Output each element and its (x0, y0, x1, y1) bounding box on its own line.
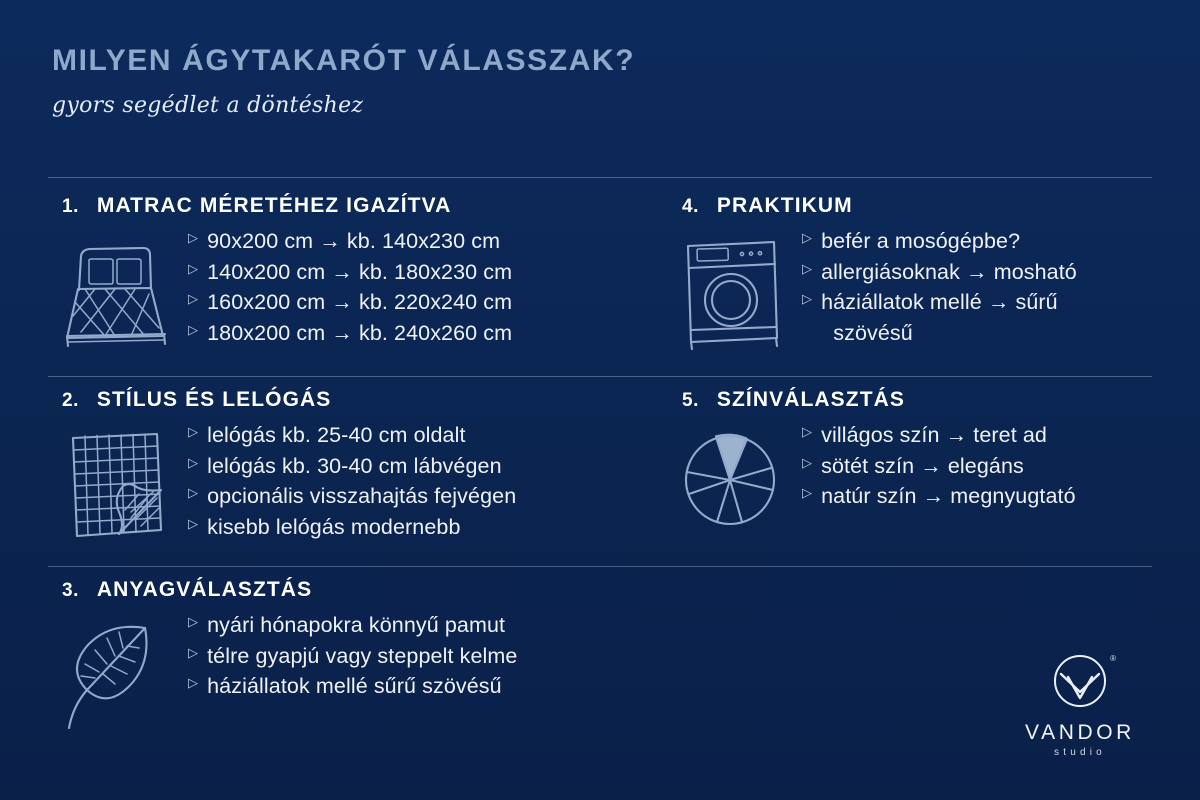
list-item-label: 180x200 cm → kb. 240x260 cm (207, 318, 512, 349)
list-item-label: 90x200 cm → kb. 140x230 cm (207, 226, 500, 257)
bullet-triangle-icon: ▷ (188, 257, 198, 282)
list-item: ▷lelógás kb. 30-40 cm lábvégen (188, 451, 516, 482)
bullet-triangle-icon: ▷ (188, 671, 198, 696)
section-header: 2. STÍLUS ÉS LELÓGÁS (62, 388, 516, 412)
logo-tagline: studio (1014, 747, 1146, 758)
list-item-label: háziállatok mellé → sűrű szövésű (821, 287, 1058, 348)
logo-wordmark: VANDOR (1014, 721, 1146, 745)
section-number: 1. (62, 196, 79, 218)
section-number: 2. (62, 390, 79, 412)
section-number: 3. (62, 580, 79, 602)
bullet-list: ▷befér a mosógépbe? ▷allergiásoknak → mo… (802, 226, 1077, 348)
list-item: ▷télre gyapjú vagy steppelt kelme (188, 641, 517, 672)
list-item-label: befér a mosógépbe? (821, 226, 1020, 257)
list-item-label: sötét szín → elegáns (821, 451, 1024, 482)
registered-trademark-icon: ® (1110, 654, 1116, 663)
brand-logo: ® VANDOR studio (1014, 652, 1146, 758)
list-item-label: lelógás kb. 30-40 cm lábvégen (207, 451, 502, 482)
list-item-label: lelógás kb. 25-40 cm oldalt (207, 420, 465, 451)
section-title: PRAKTIKUM (717, 194, 853, 218)
section-title: ANYAGVÁLASZTÁS (97, 578, 312, 602)
section-title: MATRAC MÉRETÉHEZ IGAZÍTVA (97, 194, 452, 218)
list-item: ▷160x200 cm → kb. 220x240 cm (188, 287, 512, 318)
list-item: ▷kisebb lelógás modernebb (188, 512, 516, 543)
color-wheel-icon (676, 420, 788, 544)
fabric-swatch-icon (56, 420, 174, 544)
divider-middle (48, 376, 1152, 377)
section-number: 4. (682, 196, 699, 218)
divider-lower (48, 566, 1152, 567)
bullet-triangle-icon: ▷ (802, 287, 812, 312)
bullet-list: ▷nyári hónapokra könnyű pamut ▷télre gya… (188, 610, 517, 702)
list-item-label: natúr szín → megnyugtató (821, 481, 1076, 512)
bullet-triangle-icon: ▷ (188, 226, 198, 251)
washing-machine-icon (676, 226, 788, 350)
section-body: ▷nyári hónapokra könnyű pamut ▷télre gya… (56, 610, 517, 734)
section-szinvalasztas: 5. SZÍNVÁLASZTÁS (676, 388, 1076, 544)
bullet-triangle-icon: ▷ (188, 420, 198, 445)
bullet-triangle-icon: ▷ (188, 481, 198, 506)
bullet-triangle-icon: ▷ (802, 420, 812, 445)
page-subtitle: gyors segédlet a döntéshez (52, 93, 1152, 118)
section-body: ▷villágos szín → teret ad ▷sötét szín → … (676, 420, 1076, 544)
bullet-triangle-icon: ▷ (802, 226, 812, 251)
section-praktikum: 4. PRAKTIKUM (676, 194, 1077, 350)
list-item: ▷háziállatok mellé sűrű szövésű (188, 671, 517, 702)
bullet-triangle-icon: ▷ (188, 512, 198, 537)
list-item-label: kisebb lelógás modernebb (207, 512, 460, 543)
list-item: ▷140x200 cm → kb. 180x230 cm (188, 257, 512, 288)
list-item: ▷lelógás kb. 25-40 cm oldalt (188, 420, 516, 451)
section-body: ▷lelógás kb. 25-40 cm oldalt ▷lelógás kb… (56, 420, 516, 544)
bullet-list: ▷lelógás kb. 25-40 cm oldalt ▷lelógás kb… (188, 420, 516, 542)
vandor-monogram-icon: ® (1051, 652, 1109, 710)
bullet-list: ▷villágos szín → teret ad ▷sötét szín → … (802, 420, 1076, 512)
section-stilus-es-lelogas: 2. STÍLUS ÉS LELÓGÁS (56, 388, 516, 544)
list-item-label: allergiásoknak → mosható (821, 257, 1077, 288)
leaf-icon (56, 610, 174, 734)
list-item: ▷natúr szín → megnyugtató (802, 481, 1076, 512)
bullet-triangle-icon: ▷ (802, 481, 812, 506)
list-item-label: villágos szín → teret ad (821, 420, 1047, 451)
section-header: 1. MATRAC MÉRETÉHEZ IGAZÍTVA (62, 194, 512, 218)
section-header: 5. SZÍNVÁLASZTÁS (682, 388, 1076, 412)
section-title: STÍLUS ÉS LELÓGÁS (97, 388, 332, 412)
divider-header (48, 177, 1152, 178)
infographic-poster: MILYEN ÁGYTAKARÓT VÁLASSZAK? gyors segéd… (0, 0, 1200, 800)
list-item-label: háziállatok mellé sűrű szövésű (207, 671, 502, 702)
section-header: 4. PRAKTIKUM (682, 194, 1077, 218)
list-item: ▷nyári hónapokra könnyű pamut (188, 610, 517, 641)
section-body: ▷befér a mosógépbe? ▷allergiásoknak → mo… (676, 226, 1077, 350)
list-item-label: 140x200 cm → kb. 180x230 cm (207, 257, 512, 288)
list-item: ▷sötét szín → elegáns (802, 451, 1076, 482)
bullet-triangle-icon: ▷ (188, 451, 198, 476)
page-title: MILYEN ÁGYTAKARÓT VÁLASSZAK? (52, 44, 1152, 77)
list-item-label: télre gyapjú vagy steppelt kelme (207, 641, 517, 672)
list-item: ▷180x200 cm → kb. 240x260 cm (188, 318, 512, 349)
list-item: ▷allergiásoknak → mosható (802, 257, 1077, 288)
list-item-label: 160x200 cm → kb. 220x240 cm (207, 287, 512, 318)
bullet-triangle-icon: ▷ (802, 451, 812, 476)
list-item-label: opcionális visszahajtás fejvégen (207, 481, 516, 512)
bullet-triangle-icon: ▷ (188, 641, 198, 666)
section-header: 3. ANYAGVÁLASZTÁS (62, 578, 517, 602)
bed-icon (56, 226, 174, 350)
list-item: ▷opcionális visszahajtás fejvégen (188, 481, 516, 512)
bullet-list: ▷90x200 cm → kb. 140x230 cm ▷140x200 cm … (188, 226, 512, 348)
bullet-triangle-icon: ▷ (188, 318, 198, 343)
section-anyagvalasztas: 3. ANYAGVÁLASZTÁS (56, 578, 517, 734)
list-item: ▷90x200 cm → kb. 140x230 cm (188, 226, 512, 257)
list-item: ▷villágos szín → teret ad (802, 420, 1076, 451)
section-body: ▷90x200 cm → kb. 140x230 cm ▷140x200 cm … (56, 226, 512, 350)
section-matrac-meretehez-igazitva: 1. MATRAC MÉRETÉHEZ IGAZÍTVA (56, 194, 512, 350)
list-item: ▷befér a mosógépbe? (802, 226, 1077, 257)
section-title: SZÍNVÁLASZTÁS (717, 388, 905, 412)
list-item: ▷háziállatok mellé → sűrű szövésű (802, 287, 1077, 348)
bullet-triangle-icon: ▷ (188, 610, 198, 635)
header: MILYEN ÁGYTAKARÓT VÁLASSZAK? gyors segéd… (52, 44, 1152, 118)
section-number: 5. (682, 390, 699, 412)
bullet-triangle-icon: ▷ (188, 287, 198, 312)
list-item-label: nyári hónapokra könnyű pamut (207, 610, 505, 641)
bullet-triangle-icon: ▷ (802, 257, 812, 282)
